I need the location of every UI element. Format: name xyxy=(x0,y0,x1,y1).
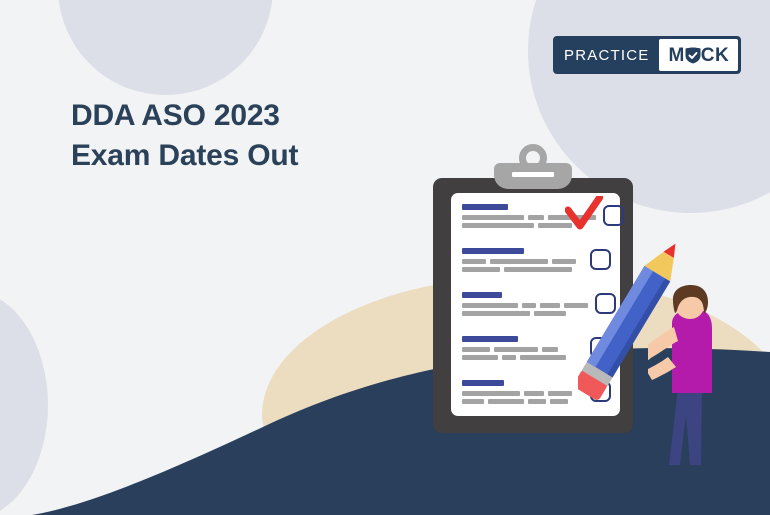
logo-mock-plate: M CK xyxy=(659,39,738,71)
text-segment xyxy=(502,355,516,360)
checklist-checkbox[interactable] xyxy=(603,205,624,226)
text-segment xyxy=(494,347,538,352)
person-illustration xyxy=(648,285,738,475)
headline-line-2: Exam Dates Out xyxy=(71,136,431,176)
checklist-text-row xyxy=(462,223,596,228)
text-segment xyxy=(462,311,530,316)
logo-text-mock-m: M xyxy=(668,46,684,65)
checklist-item-heading xyxy=(462,292,502,298)
shield-check-icon xyxy=(685,47,701,64)
logo-text-practice: PRACTICE xyxy=(556,39,659,71)
text-segment xyxy=(550,399,568,404)
checklist-text-row xyxy=(462,391,583,396)
text-segment xyxy=(540,303,560,308)
text-segment xyxy=(462,391,520,396)
checklist-item-text xyxy=(462,336,583,363)
logo-text-mock-ck: CK xyxy=(701,46,729,65)
text-segment xyxy=(462,259,486,264)
checklist-item-text xyxy=(462,292,588,319)
text-segment xyxy=(462,347,490,352)
checklist-text-row xyxy=(462,347,583,352)
checklist-text-row xyxy=(462,311,588,316)
text-segment xyxy=(522,303,536,308)
headline-line-1: DDA ASO 2023 xyxy=(71,96,431,136)
page-title: DDA ASO 2023 Exam Dates Out xyxy=(71,96,431,176)
checklist-item-heading xyxy=(462,380,504,386)
text-segment xyxy=(462,267,500,272)
text-segment xyxy=(534,311,566,316)
checklist-item-text xyxy=(462,204,596,231)
checklist-text-row xyxy=(462,303,588,308)
text-segment xyxy=(462,223,534,228)
text-segment xyxy=(538,223,572,228)
text-segment xyxy=(462,399,484,404)
checklist-item-heading xyxy=(462,336,518,342)
checklist-text-row xyxy=(462,399,583,404)
checklist-text-row xyxy=(462,259,583,264)
text-segment xyxy=(528,215,544,220)
text-segment xyxy=(462,303,518,308)
checklist-text-row xyxy=(462,267,583,272)
checklist-item xyxy=(462,204,611,231)
practicemock-logo[interactable]: PRACTICE M CK xyxy=(553,36,741,74)
text-segment xyxy=(528,399,546,404)
checklist-text-row xyxy=(462,215,596,220)
text-segment xyxy=(462,355,498,360)
decorative-circle-top-left xyxy=(58,0,273,95)
checklist-item-heading xyxy=(462,248,524,254)
checklist-item-heading xyxy=(462,204,508,210)
text-segment xyxy=(552,259,576,264)
text-segment xyxy=(548,215,596,220)
text-segment xyxy=(524,391,544,396)
checklist-item-text xyxy=(462,380,583,407)
clipboard-clip-stripe xyxy=(512,172,554,177)
text-segment xyxy=(488,399,524,404)
checklist-text-row xyxy=(462,355,583,360)
text-segment xyxy=(542,347,558,352)
text-segment xyxy=(548,391,572,396)
text-segment xyxy=(462,215,524,220)
checklist-item-text xyxy=(462,248,583,275)
text-segment xyxy=(520,355,566,360)
promo-banner: DDA ASO 2023 Exam Dates Out PRACTICE M C… xyxy=(0,0,770,515)
text-segment xyxy=(490,259,548,264)
text-segment xyxy=(504,267,572,272)
